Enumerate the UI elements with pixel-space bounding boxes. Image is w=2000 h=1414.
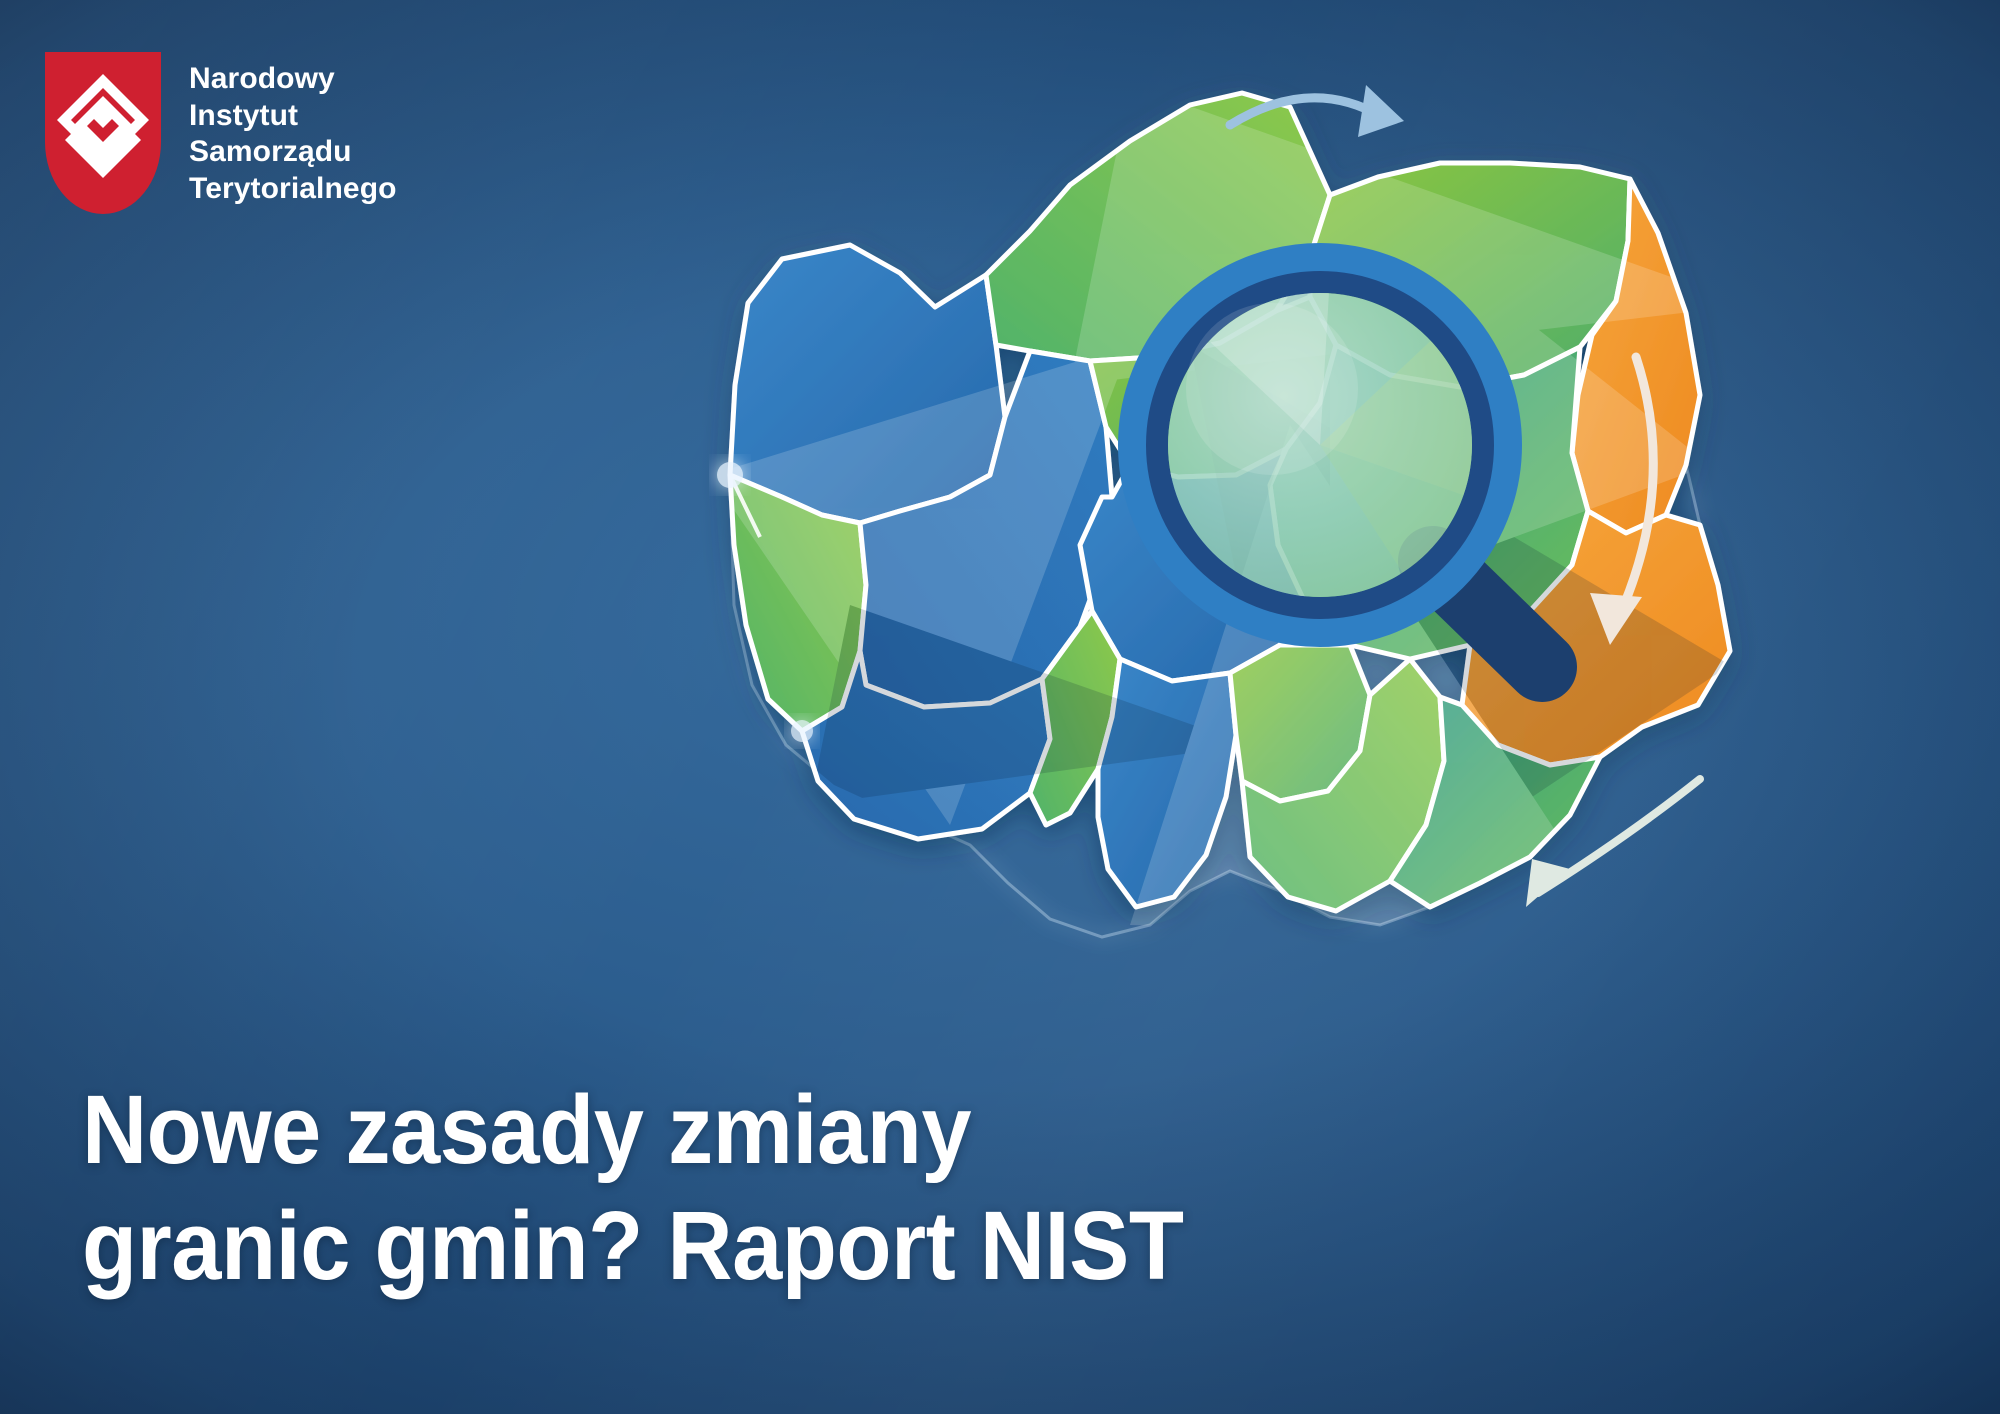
nist-shield-logo (45, 52, 161, 214)
headline-line-2: granic gmin? Raport NIST (82, 1188, 1183, 1304)
logo-line-1: Narodowy (189, 61, 397, 98)
logo-line-2: Instytut (189, 98, 397, 135)
poster-canvas: Narodowy Instytut Samorządu Terytorialne… (0, 0, 2000, 1414)
map-glow-point-sw (791, 720, 813, 742)
nist-logo[interactable]: Narodowy Instytut Samorządu Terytorialne… (45, 52, 397, 214)
nist-logo-text: Narodowy Instytut Samorządu Terytorialne… (189, 52, 397, 207)
headline: Nowe zasady zmiany granic gmin? Raport N… (82, 1072, 1183, 1305)
poland-map-illustration (430, 45, 1990, 1055)
magnifier-lens-highlight (1186, 303, 1358, 475)
headline-line-1: Nowe zasady zmiany (82, 1072, 1183, 1188)
logo-line-4: Terytorialnego (189, 171, 397, 208)
logo-line-3: Samorządu (189, 134, 397, 171)
map-glow-point-nw (717, 462, 743, 488)
shield-chevron-mark (57, 74, 149, 178)
